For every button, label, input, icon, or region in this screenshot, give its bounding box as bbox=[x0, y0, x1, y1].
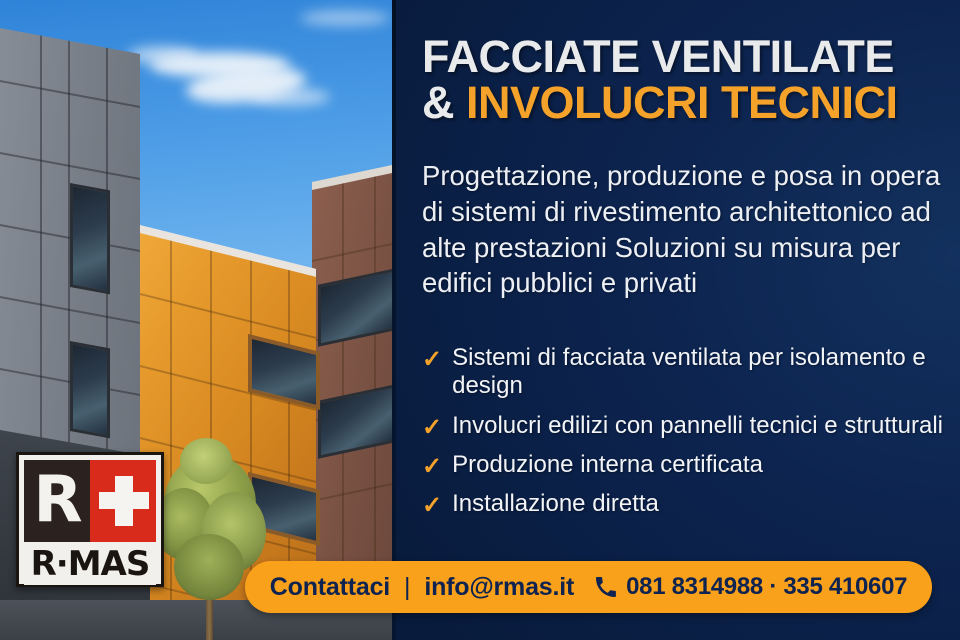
headline-line-1: FACCIATE VENTILATE bbox=[422, 34, 952, 80]
check-icon: ✓ bbox=[422, 344, 442, 372]
check-icon: ✓ bbox=[422, 490, 442, 518]
logo-wordmark: R·MAS bbox=[31, 544, 150, 584]
logo-wordmark-band: R·MAS bbox=[24, 542, 156, 585]
advertisement-banner: FACCIATE VENTILATE & INVOLUCRI TECNICI P… bbox=[0, 0, 960, 640]
list-item-label: Sistemi di facciata ventilata per isolam… bbox=[452, 344, 950, 401]
list-item: ✓ Produzione interna certificata bbox=[422, 451, 950, 479]
list-item: ✓ Involucri edilizi con pannelli tecnici… bbox=[422, 412, 950, 440]
check-icon: ✓ bbox=[422, 451, 442, 479]
contact-bar[interactable]: Contattaci | info@rmas.it 081 8314988 · … bbox=[245, 561, 932, 613]
contact-separator: | bbox=[404, 573, 410, 602]
phone-icon bbox=[594, 575, 618, 599]
cloud bbox=[250, 88, 330, 106]
content-panel: FACCIATE VENTILATE & INVOLUCRI TECNICI P… bbox=[392, 0, 960, 640]
feature-list: ✓ Sistemi di facciata ventilata per isol… bbox=[422, 344, 950, 530]
headline-line-2: & INVOLUCRI TECNICI bbox=[422, 80, 952, 126]
list-item-label: Produzione interna certificata bbox=[452, 451, 763, 479]
list-item-label: Involucri edilizi con pannelli tecnici e… bbox=[452, 412, 943, 440]
cloud bbox=[300, 10, 390, 26]
body-paragraph: Progettazione, produzione e posa in oper… bbox=[422, 158, 950, 301]
check-icon: ✓ bbox=[422, 412, 442, 440]
headline-line-2-text: INVOLUCRI TECNICI bbox=[466, 77, 898, 128]
logo-top-row: R bbox=[24, 460, 156, 542]
logo-letter-block: R bbox=[24, 460, 90, 542]
contact-phone-numbers[interactable]: 081 8314988 · 335 410607 bbox=[626, 573, 907, 601]
logo-letter: R bbox=[33, 475, 80, 526]
contact-cta-label: Contattaci bbox=[270, 573, 390, 602]
rmas-logo: R R·MAS bbox=[16, 452, 164, 587]
contact-bar-content: Contattaci | info@rmas.it 081 8314988 · … bbox=[270, 573, 907, 602]
list-item-label: Installazione diretta bbox=[452, 490, 659, 518]
list-item: ✓ Installazione diretta bbox=[422, 490, 950, 518]
tree bbox=[150, 430, 270, 640]
list-item: ✓ Sistemi di facciata ventilata per isol… bbox=[422, 344, 950, 401]
ampersand: & bbox=[422, 77, 454, 128]
contact-email[interactable]: info@rmas.it bbox=[424, 573, 574, 602]
plus-cross-icon bbox=[90, 460, 156, 542]
headline: FACCIATE VENTILATE & INVOLUCRI TECNICI bbox=[422, 34, 952, 126]
